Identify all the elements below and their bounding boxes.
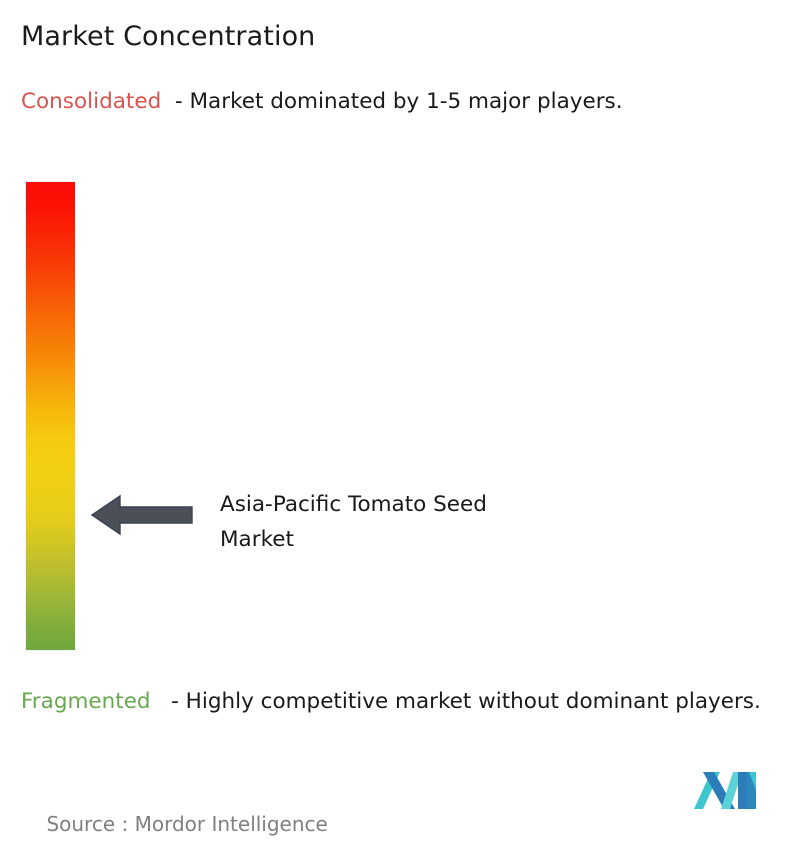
legend-fragmented: Fragmented - Highly competitive market w…	[21, 686, 781, 717]
page-title: Market Concentration	[21, 20, 315, 54]
source-attribution: Source : Mordor Intelligence	[21, 782, 328, 866]
concentration-gradient-bar	[26, 182, 75, 650]
left-arrow-icon	[88, 486, 196, 544]
legend-consolidated-key: Consolidated	[21, 89, 161, 114]
source-value: Mordor Intelligence	[135, 812, 328, 836]
mordor-intelligence-logo	[694, 768, 756, 810]
legend-fragmented-description: - Highly competitive market without domi…	[171, 689, 761, 714]
legend-consolidated: Consolidated - Market dominated by 1-5 m…	[21, 86, 781, 117]
market-pointer: Asia-Pacific Tomato Seed Market	[88, 486, 620, 557]
legend-consolidated-description: - Market dominated by 1-5 major players.	[175, 89, 623, 114]
market-concentration-chart: Market Concentration Consolidated - Mark…	[0, 0, 796, 834]
legend-consolidated-separator	[161, 89, 175, 114]
market-pointer-label-line1: Asia-Pacific Tomato Seed	[220, 492, 487, 517]
source-label: Source :	[46, 812, 134, 836]
legend-fragmented-separator	[151, 689, 172, 714]
market-pointer-label: Asia-Pacific Tomato Seed Market	[220, 487, 620, 557]
legend-fragmented-key: Fragmented	[21, 689, 151, 714]
market-pointer-label-line2: Market	[220, 527, 294, 552]
